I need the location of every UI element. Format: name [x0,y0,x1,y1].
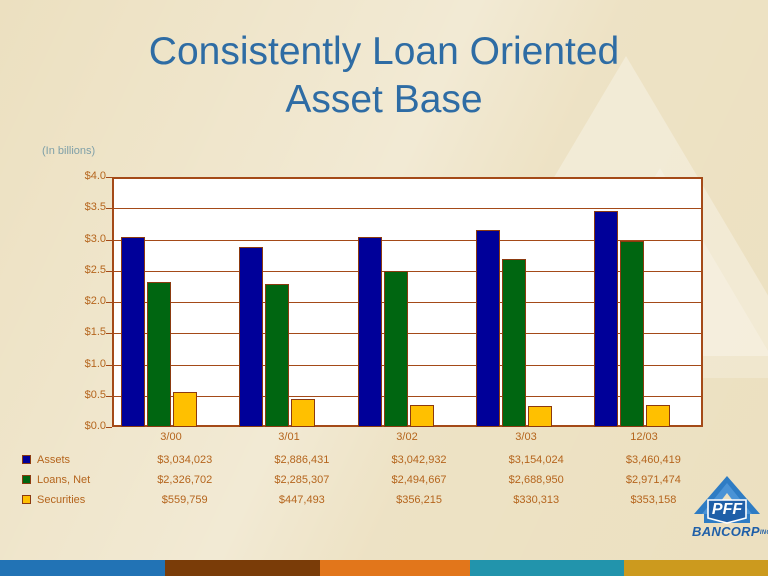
table-cell-3-03: $330,313 [478,490,595,510]
table-cell-3-02: $356,215 [360,490,477,510]
y-axis-label: $0.5 [44,390,106,401]
legend-entry: Assets [22,450,126,470]
gridline [112,208,703,209]
legend-label: Loans, Net [37,474,90,486]
gridline [112,240,703,241]
table-cell-3-01: $2,886,431 [243,450,360,470]
table-cell-3-02: $3,042,932 [360,450,477,470]
y-axis-tick [106,365,112,366]
plot-area [112,177,703,427]
table-row: Securities$559,759$447,493$356,215$330,3… [22,490,712,510]
table-cell-3-01: $447,493 [243,490,360,510]
table-row: Loans, Net$2,326,702$2,285,307$2,494,667… [22,470,712,490]
bottom-color-band [0,560,768,576]
table-cell-3-03: $3,154,024 [478,450,595,470]
pff-bancorp-logo: PFF BANCORPINC. [692,474,762,546]
legend-label: Securities [37,494,85,506]
bar-loans-net-3-03 [502,259,526,427]
legend-swatch-icon [22,475,31,484]
logo-word-bancorp: BANCORP [692,524,760,539]
y-axis-tick [106,396,112,397]
logo-mark-text: PFF [712,501,743,518]
house-roof-icon: PFF [692,474,762,524]
legend-swatch-icon [22,495,31,504]
gridline [112,302,703,303]
table-cell-12-03: $3,460,419 [595,450,712,470]
data-table: Assets$3,034,023$2,886,431$3,042,932$3,1… [22,450,712,510]
bar-securities-3-02 [410,405,434,427]
bar-securities-3-01 [291,399,315,427]
bar-loans-net-3-02 [384,271,408,427]
y-axis-tick [106,333,112,334]
bar-securities-12-03 [646,405,670,427]
band-segment-teal [470,560,624,576]
y-axis-tick [106,177,112,178]
y-axis-label: $0.0 [44,421,106,432]
y-axis-tick [106,427,112,428]
y-axis-label: $3.0 [44,234,106,245]
x-axis-label-3-01: 3/01 [230,431,348,443]
y-axis-tick [106,208,112,209]
y-axis-tick [106,302,112,303]
band-segment-orange [320,560,470,576]
table-cell-3-00: $559,759 [126,490,243,510]
gridline [112,333,703,334]
band-segment-blue [0,560,165,576]
table-cell-3-00: $3,034,023 [126,450,243,470]
units-caption: (In billions) [42,145,95,157]
table-row: Assets$3,034,023$2,886,431$3,042,932$3,1… [22,450,712,470]
bar-assets-3-01 [239,247,263,427]
bar-securities-3-03 [528,406,552,427]
legend-swatch-icon [22,455,31,464]
legend-entry: Loans, Net [22,470,126,490]
y-axis-label: $1.5 [44,327,106,338]
bar-assets-3-02 [358,237,382,427]
table-cell-3-00: $2,326,702 [126,470,243,490]
bar-assets-3-00 [121,237,145,427]
table-cell-3-01: $2,285,307 [243,470,360,490]
y-axis-tick [106,271,112,272]
bar-securities-3-00 [173,392,197,427]
logo-word-suffix: INC. [760,530,768,536]
gridline [112,365,703,366]
x-axis-label-3-03: 3/03 [467,431,585,443]
background-chevron-small [536,168,768,378]
bar-assets-12-03 [594,211,618,427]
y-axis-label: $1.0 [44,359,106,370]
slide-title: Consistently Loan Oriented Asset Base [0,28,768,124]
y-axis-tick [106,240,112,241]
band-segment-brown [165,560,320,576]
bar-assets-3-03 [476,230,500,427]
y-axis-label: $4.0 [44,171,106,182]
gridline [112,271,703,272]
y-axis-label: $2.0 [44,296,106,307]
slide-canvas: Consistently Loan Oriented Asset Base (I… [0,0,768,576]
x-axis-label-12-03: 12/03 [585,431,703,443]
bar-loans-net-3-00 [147,282,171,427]
bar-loans-net-3-01 [265,284,289,427]
table-cell-3-02: $2,494,667 [360,470,477,490]
gridline [112,396,703,397]
band-segment-gold [624,560,768,576]
y-axis-label: $3.5 [44,202,106,213]
logo-wordmark: BANCORPINC. [692,524,762,539]
x-axis-label-3-02: 3/02 [348,431,466,443]
table-cell-3-03: $2,688,950 [478,470,595,490]
y-axis-label: $2.5 [44,265,106,276]
legend-label: Assets [37,454,70,466]
legend-entry: Securities [22,490,126,510]
bar-loans-net-12-03 [620,241,644,427]
x-axis-label-3-00: 3/00 [112,431,230,443]
